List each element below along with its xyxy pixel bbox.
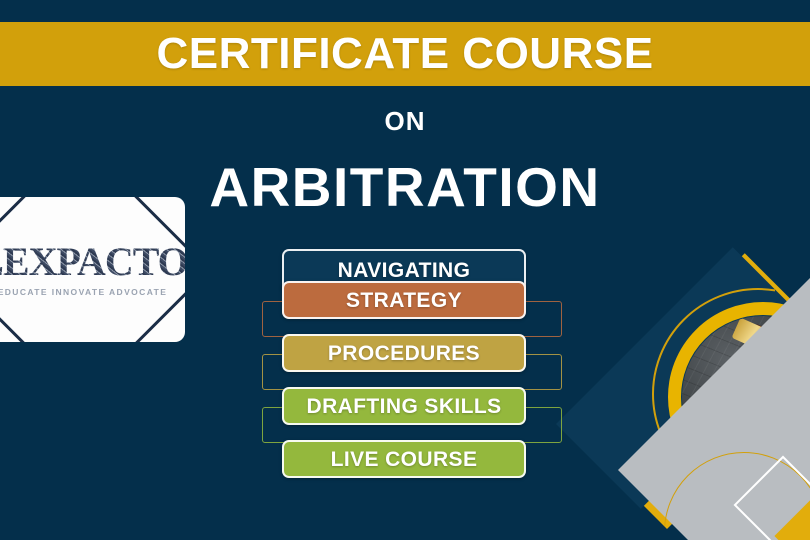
- module-label: PROCEDURES: [328, 343, 480, 364]
- module-label: STRATEGY: [346, 290, 462, 311]
- logo-tagline: EDUCATE INNOVATE ADVOCATE: [0, 287, 167, 297]
- module-pill-procedures[interactable]: PROCEDURES: [282, 334, 526, 372]
- logo-content: LEXPACTO EDUCATE INNOVATE ADVOCATE: [0, 197, 185, 342]
- logo-wordmark: LEXPACTO: [0, 242, 185, 282]
- headline-preposition: ON: [180, 108, 630, 134]
- poster-canvas: CERTIFICATE COURSE ON ARBITRATION LEXPAC…: [0, 0, 810, 540]
- banner-title: CERTIFICATE COURSE: [156, 32, 653, 76]
- headline-subject: ARBITRATION: [180, 160, 630, 215]
- module-pill-drafting-skills[interactable]: DRAFTING SKILLS: [282, 387, 526, 425]
- headline-block: ON ARBITRATION: [180, 108, 630, 215]
- module-label: DRAFTING SKILLS: [307, 396, 502, 417]
- module-pill-strategy[interactable]: STRATEGY: [282, 281, 526, 319]
- module-list: NAVIGATING STRATEGY PROCEDURES DRAFTING …: [262, 249, 562, 494]
- module-pill-live-course[interactable]: LIVE COURSE: [282, 440, 526, 478]
- logo-card: LEXPACTO EDUCATE INNOVATE ADVOCATE: [0, 197, 185, 342]
- module-label: NAVIGATING: [338, 260, 471, 281]
- banner-strip: CERTIFICATE COURSE: [0, 22, 810, 86]
- module-label: LIVE COURSE: [331, 449, 478, 470]
